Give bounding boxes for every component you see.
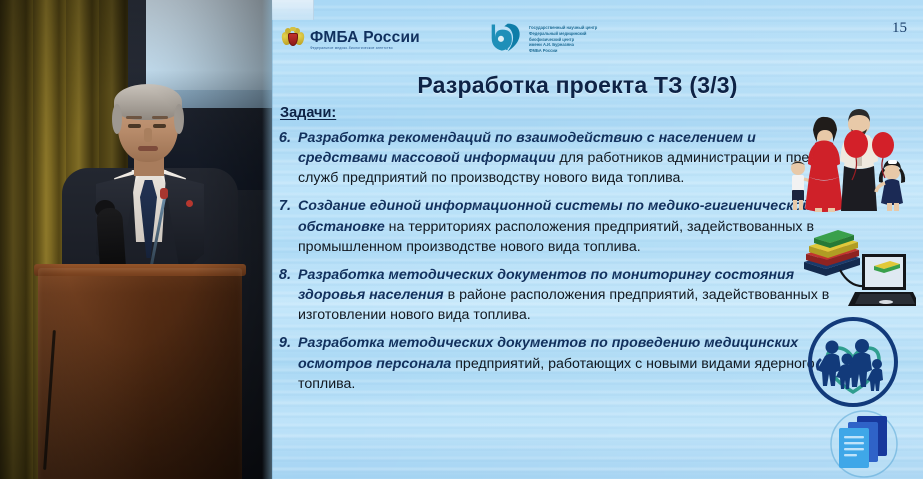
fmba-logo-subtitle: Федеральное медико-биологическое агентст… <box>310 47 420 50</box>
fmbc-logo-line-5: ФМБА России <box>529 48 597 54</box>
fmba-logo-name: ФМБА России <box>310 30 420 46</box>
list-item-text: Создание единой информационной системы п… <box>298 196 836 256</box>
slide-page-number: 15 <box>892 20 907 37</box>
list-item: 8. Разработка методических документов по… <box>276 265 836 325</box>
list-item: 9. Разработка методических документов по… <box>276 333 836 393</box>
slide-content: ФМБА России Федеральное медико-биологиче… <box>272 0 923 479</box>
presenter-photo <box>0 0 272 479</box>
fmbc-heart-monogram-icon <box>489 22 523 54</box>
family-with-balloons-illustration <box>784 100 917 212</box>
screenshot-root: Презентация ФМБА России Федеральное меди… <box>0 0 923 479</box>
slide-title: Разработка проекта ТЗ (3/3) <box>272 72 923 99</box>
books-and-laptop-elearning-illustration <box>800 216 916 316</box>
list-item-number: 9. <box>276 333 298 393</box>
double-headed-eagle-icon <box>282 27 304 53</box>
family-health-circle-logo <box>806 316 900 408</box>
fmba-logo: ФМБА России Федеральное медико-биологиче… <box>282 27 420 53</box>
list-item-text: Разработка рекомендаций по взаимодействи… <box>298 128 836 188</box>
fmbc-logo-line-1: Государственный научный центр <box>529 25 597 31</box>
photo-right-edge-glow <box>262 0 272 479</box>
fmbc-logo: Государственный научный центр Федеральны… <box>489 22 597 54</box>
photo-vignette <box>0 0 272 479</box>
list-item-number: 8. <box>276 265 298 325</box>
stacked-documents-icon <box>821 408 907 479</box>
tasks-list: 6. Разработка рекомендаций по взаимодейс… <box>276 128 836 402</box>
list-item-text: Разработка методических документов по мо… <box>298 265 836 325</box>
list-item-number: 6. <box>276 128 298 188</box>
list-item-number: 7. <box>276 196 298 256</box>
tasks-heading: Задачи: <box>280 105 336 121</box>
list-item: 7. Создание единой информационной систем… <box>276 196 836 256</box>
list-item-text: Разработка методических документов по пр… <box>298 333 836 393</box>
list-item: 6. Разработка рекомендаций по взаимодейс… <box>276 128 836 188</box>
